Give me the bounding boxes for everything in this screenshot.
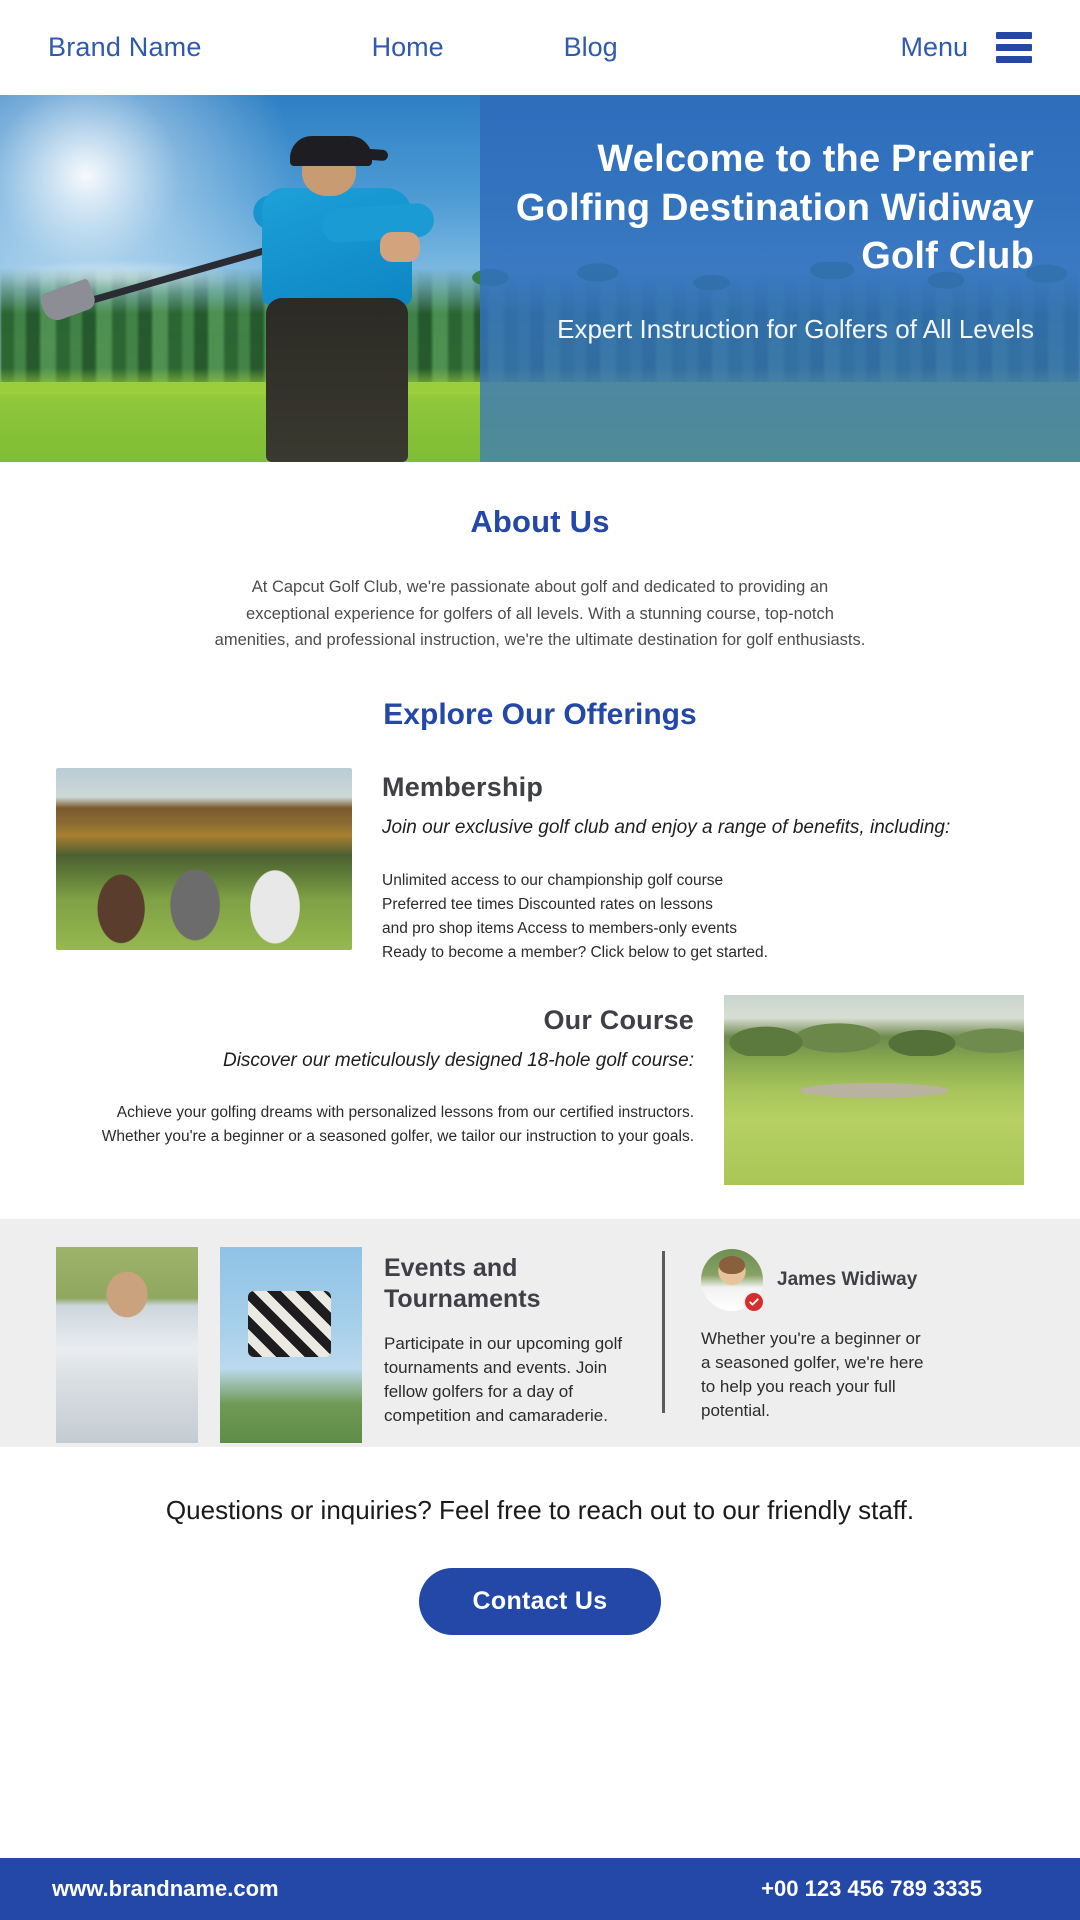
course-lead: Discover our meticulously designed 18-ho…	[56, 1048, 694, 1074]
about-paragraph: At Capcut Golf Club, we're passionate ab…	[210, 574, 870, 654]
events-content: Events and Tournaments Participate in ou…	[384, 1247, 634, 1427]
about-heading: About Us	[0, 504, 1080, 540]
events-image-2	[220, 1247, 362, 1443]
footer-phone[interactable]: +00 123 456 789 3335	[761, 1876, 982, 1902]
hero-title: Welcome to the Premier Golfing Destinati…	[510, 135, 1034, 281]
vertical-divider	[662, 1251, 665, 1413]
course-title: Our Course	[56, 1005, 694, 1036]
events-image-1	[56, 1247, 198, 1443]
membership-benefits: Unlimited access to our championship gol…	[382, 869, 1024, 965]
events-paragraph: Participate in our upcoming golf tournam…	[384, 1332, 634, 1427]
contact-us-button[interactable]: Contact Us	[419, 1568, 662, 1635]
top-navigation-bar: Brand Name Home Blog Menu	[0, 0, 1080, 95]
testimonial-text: Whether you're a beginner or a seasoned …	[701, 1327, 933, 1422]
membership-title: Membership	[382, 772, 1024, 803]
events-section: Events and Tournaments Participate in ou…	[0, 1219, 1080, 1447]
footer-bar: www.brandname.com +00 123 456 789 3335	[0, 1858, 1080, 1920]
testimonial-card: James Widiway Whether you're a beginner …	[701, 1247, 933, 1422]
nav-links-group: Home Blog	[372, 32, 618, 63]
testimonial-header: James Widiway	[701, 1249, 933, 1311]
membership-lead: Join our exclusive golf club and enjoy a…	[382, 815, 1024, 841]
contact-section: Questions or inquiries? Feel free to rea…	[0, 1447, 1080, 1635]
brand-name-logo[interactable]: Brand Name	[48, 32, 202, 63]
testimonial-name: James Widiway	[777, 1269, 917, 1292]
golfer-photo	[230, 110, 500, 462]
membership-image	[56, 768, 352, 950]
menu-label[interactable]: Menu	[900, 32, 968, 63]
membership-content: Membership Join our exclusive golf club …	[382, 768, 1024, 965]
course-paragraph: Achieve your golfing dreams with persona…	[56, 1101, 694, 1149]
offerings-heading: Explore Our Offerings	[0, 698, 1080, 732]
hero-banner: Welcome to the Premier Golfing Destinati…	[0, 95, 1080, 462]
hero-subtitle: Expert Instruction for Golfers of All Le…	[510, 313, 1034, 346]
course-row: Our Course Discover our meticulously des…	[0, 995, 1080, 1185]
avatar	[701, 1249, 763, 1311]
nav-link-home[interactable]: Home	[372, 32, 444, 63]
membership-row: Membership Join our exclusive golf club …	[0, 768, 1080, 965]
nav-link-blog[interactable]: Blog	[564, 32, 618, 63]
about-section: About Us At Capcut Golf Club, we're pass…	[0, 462, 1080, 654]
contact-prompt: Questions or inquiries? Feel free to rea…	[0, 1493, 1080, 1528]
course-image	[724, 995, 1024, 1185]
footer-website[interactable]: www.brandname.com	[52, 1876, 279, 1902]
course-content: Our Course Discover our meticulously des…	[56, 995, 694, 1148]
hamburger-menu-icon[interactable]	[996, 32, 1032, 63]
verified-check-icon	[743, 1291, 765, 1313]
nav-menu-group[interactable]: Menu	[900, 32, 1032, 63]
events-title: Events and Tournaments	[384, 1253, 634, 1314]
hero-text-panel: Welcome to the Premier Golfing Destinati…	[480, 95, 1080, 462]
